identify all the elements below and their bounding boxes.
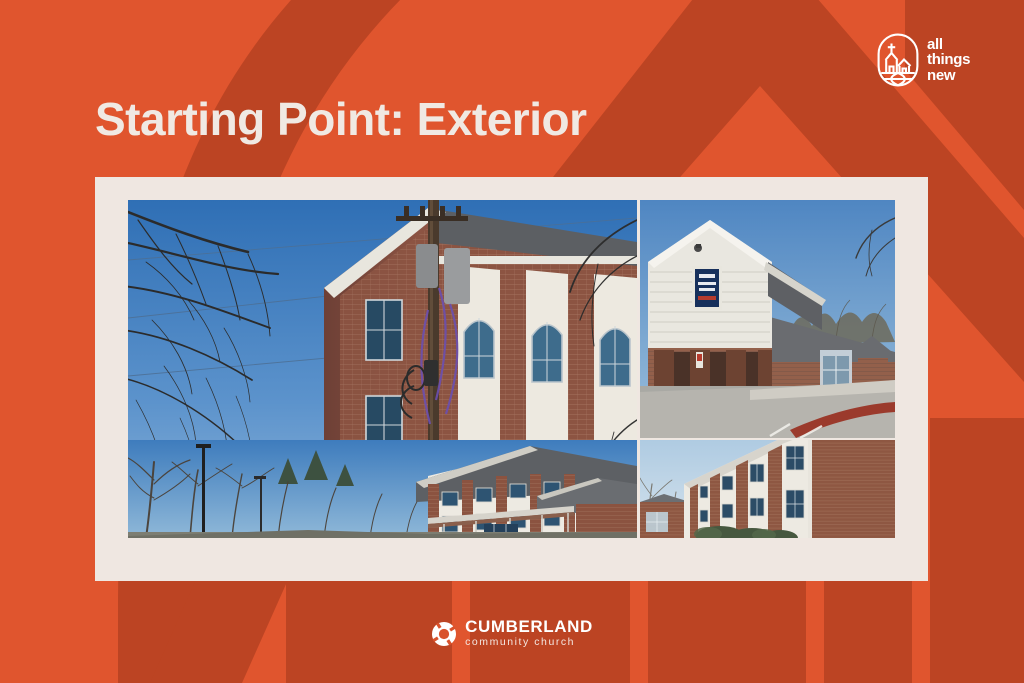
- logo-line-3: new: [927, 68, 970, 83]
- cumberland-wordmark: CUMBERLAND community church: [465, 618, 593, 651]
- ring-icon: [431, 621, 457, 647]
- cumberland-subtitle: community church: [465, 635, 593, 651]
- photo-frame: [95, 177, 928, 581]
- page-title: Starting Point: Exterior: [95, 92, 586, 146]
- logo-line-2: things: [927, 52, 970, 67]
- cumberland-community-church-logo: CUMBERLAND community church: [0, 618, 1024, 651]
- cumberland-name: CUMBERLAND: [465, 618, 593, 635]
- photo-grid: [128, 200, 895, 538]
- photo-entrance-gable: [640, 200, 895, 438]
- logo-line-1: all: [927, 37, 970, 52]
- photo-upward-wing: [640, 440, 895, 538]
- all-things-new-logo: all things new: [876, 32, 970, 88]
- arch-church-globe-icon: [876, 32, 920, 88]
- photo-wide-campus: [128, 440, 637, 538]
- all-things-new-wordmark: all things new: [927, 37, 970, 83]
- slide: Starting Point: Exterior: [0, 0, 1024, 683]
